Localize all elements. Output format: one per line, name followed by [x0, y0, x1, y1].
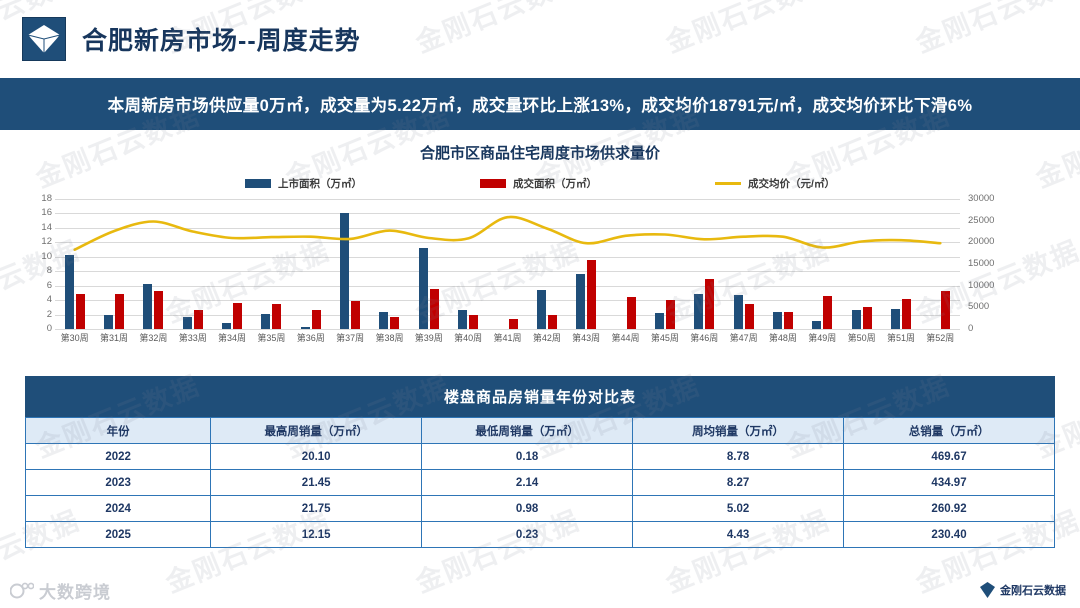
- x-axis-tick-label: 第36周: [291, 331, 330, 344]
- table-body: 202220.100.188.78469.67202321.452.148.27…: [26, 444, 1055, 548]
- table-cell: 2.14: [422, 470, 633, 496]
- y-axis-left-tick: 0: [30, 323, 52, 334]
- table-cell: 0.18: [422, 444, 633, 470]
- y-axis-right-tick: 25000: [968, 215, 1014, 226]
- legend-swatch-supply: [245, 179, 271, 188]
- legend-label-sold: 成交面积（万㎡）: [513, 176, 597, 191]
- table-column-header: 最低周销量（万㎡）: [422, 418, 633, 444]
- x-axis-tick-label: 第34周: [212, 331, 251, 344]
- diamond-icon: [980, 582, 995, 598]
- x-axis-tick-label: 第49周: [803, 331, 842, 344]
- chart-section: 合肥市区商品住宅周度市场供求量价 上市面积（万㎡） 成交面积（万㎡） 成交均价（…: [0, 130, 1080, 370]
- x-axis-tick-label: 第50周: [842, 331, 881, 344]
- y-axis-left-tick: 18: [30, 193, 52, 204]
- y-axis-left-tick: 12: [30, 236, 52, 247]
- table-cell: 5.02: [633, 496, 844, 522]
- page-footer: 大数跨境 金刚石云数据: [0, 572, 1080, 608]
- x-axis-tick-label: 第40周: [448, 331, 487, 344]
- legend-label-supply: 上市面积（万㎡）: [278, 176, 362, 191]
- table-caption: 楼盘商品房销量年份对比表: [25, 376, 1055, 417]
- year-comparison-table: 年份最高周销量（万㎡）最低周销量（万㎡）周均销量（万㎡）总销量（万㎡） 2022…: [25, 417, 1055, 548]
- x-axis-tick-label: 第45周: [645, 331, 684, 344]
- table-column-header: 周均销量（万㎡）: [633, 418, 844, 444]
- y-axis-right-tick: 15000: [968, 258, 1014, 269]
- table-cell: 20.10: [211, 444, 422, 470]
- table-row: 202512.150.234.43230.40: [26, 522, 1055, 548]
- page-header: 合肥新房市场--周度走势: [0, 0, 1080, 78]
- table-cell: 260.92: [844, 496, 1055, 522]
- x-axis-labels: 第30周第31周第32周第33周第34周第35周第36周第37周第38周第39周…: [55, 331, 960, 347]
- gridline: [55, 329, 960, 330]
- x-axis-tick-label: 第33周: [173, 331, 212, 344]
- y-axis-left-tick: 6: [30, 280, 52, 291]
- y-axis-right-tick: 30000: [968, 193, 1014, 204]
- legend-swatch-price: [715, 182, 741, 185]
- legend-item-supply: 上市面积（万㎡）: [245, 176, 362, 191]
- x-axis-tick-label: 第42周: [527, 331, 566, 344]
- chart-legend: 上市面积（万㎡） 成交面积（万㎡） 成交均价（元/㎡）: [0, 176, 1080, 191]
- summary-banner-text: 本周新房市场供应量0万㎡，成交量为5.22万㎡，成交量环比上涨13%，成交均价1…: [108, 92, 973, 116]
- footer-left-brand: 大数跨境: [10, 578, 111, 603]
- y-axis-right-tick: 5000: [968, 301, 1014, 312]
- legend-item-price: 成交均价（元/㎡）: [715, 176, 835, 191]
- y-axis-right-tick: 0: [968, 323, 1014, 334]
- table-cell: 0.98: [422, 496, 633, 522]
- x-axis-tick-label: 第41周: [488, 331, 527, 344]
- x-axis-tick-label: 第52周: [921, 331, 960, 344]
- x-axis-tick-label: 第46周: [685, 331, 724, 344]
- table-cell: 8.78: [633, 444, 844, 470]
- legend-item-sold: 成交面积（万㎡）: [480, 176, 597, 191]
- y-axis-right-tick: 20000: [968, 236, 1014, 247]
- summary-banner: 本周新房市场供应量0万㎡，成交量为5.22万㎡，成交量环比上涨13%，成交均价1…: [0, 78, 1080, 130]
- footer-right-text: 金刚石云数据: [1000, 582, 1066, 598]
- x-axis-tick-label: 第43周: [567, 331, 606, 344]
- y-axis-left-tick: 8: [30, 265, 52, 276]
- table-cell: 21.75: [211, 496, 422, 522]
- y-axis-left-tick: 4: [30, 294, 52, 305]
- table-column-header: 最高周销量（万㎡）: [211, 418, 422, 444]
- page-title: 合肥新房市场--周度走势: [82, 21, 361, 57]
- legend-swatch-sold: [480, 179, 506, 188]
- table-cell: 2023: [26, 470, 211, 496]
- y-axis-left-tick: 14: [30, 222, 52, 233]
- x-axis-tick-label: 第38周: [370, 331, 409, 344]
- table-cell: 2025: [26, 522, 211, 548]
- table-cell: 8.27: [633, 470, 844, 496]
- legend-label-price: 成交均价（元/㎡）: [748, 176, 835, 191]
- x-axis-tick-label: 第31周: [94, 331, 133, 344]
- y-axis-left-tick: 2: [30, 309, 52, 320]
- y-axis-left-tick: 10: [30, 251, 52, 262]
- diamond-gem-icon: [27, 23, 61, 55]
- x-axis-tick-label: 第48周: [763, 331, 802, 344]
- paw-logo-icon: [10, 581, 34, 601]
- table-column-header: 总销量（万㎡）: [844, 418, 1055, 444]
- footer-right-brand: 金刚石云数据: [980, 582, 1066, 598]
- table-cell: 434.97: [844, 470, 1055, 496]
- y-axis-left-tick: 16: [30, 207, 52, 218]
- chart-plot-area: 第30周第31周第32周第33周第34周第35周第36周第37周第38周第39周…: [0, 199, 1080, 347]
- chart-price-line: [55, 199, 960, 329]
- table-cell: 2024: [26, 496, 211, 522]
- x-axis-tick-label: 第37周: [330, 331, 369, 344]
- x-axis-tick-label: 第30周: [55, 331, 94, 344]
- table-cell: 12.15: [211, 522, 422, 548]
- comparison-table-section: 楼盘商品房销量年份对比表 年份最高周销量（万㎡）最低周销量（万㎡）周均销量（万㎡…: [25, 376, 1055, 548]
- table-column-header: 年份: [26, 418, 211, 444]
- table-cell: 230.40: [844, 522, 1055, 548]
- table-row: 202220.100.188.78469.67: [26, 444, 1055, 470]
- footer-left-text: 大数跨境: [39, 578, 111, 603]
- x-axis-tick-label: 第32周: [134, 331, 173, 344]
- x-axis-tick-label: 第35周: [252, 331, 291, 344]
- x-axis-tick-label: 第47周: [724, 331, 763, 344]
- y-axis-right-tick: 10000: [968, 280, 1014, 291]
- table-row: 202321.452.148.27434.97: [26, 470, 1055, 496]
- table-cell: 2022: [26, 444, 211, 470]
- price-line-path: [75, 217, 941, 250]
- x-axis-tick-label: 第44周: [606, 331, 645, 344]
- table-row: 202421.750.985.02260.92: [26, 496, 1055, 522]
- table-header-row: 年份最高周销量（万㎡）最低周销量（万㎡）周均销量（万㎡）总销量（万㎡）: [26, 418, 1055, 444]
- brand-logo-icon: [22, 17, 66, 61]
- chart-canvas: [55, 199, 960, 329]
- chart-title: 合肥市区商品住宅周度市场供求量价: [0, 130, 1080, 163]
- x-axis-tick-label: 第51周: [881, 331, 920, 344]
- table-cell: 0.23: [422, 522, 633, 548]
- x-axis-tick-label: 第39周: [409, 331, 448, 344]
- table-cell: 21.45: [211, 470, 422, 496]
- table-cell: 469.67: [844, 444, 1055, 470]
- table-cell: 4.43: [633, 522, 844, 548]
